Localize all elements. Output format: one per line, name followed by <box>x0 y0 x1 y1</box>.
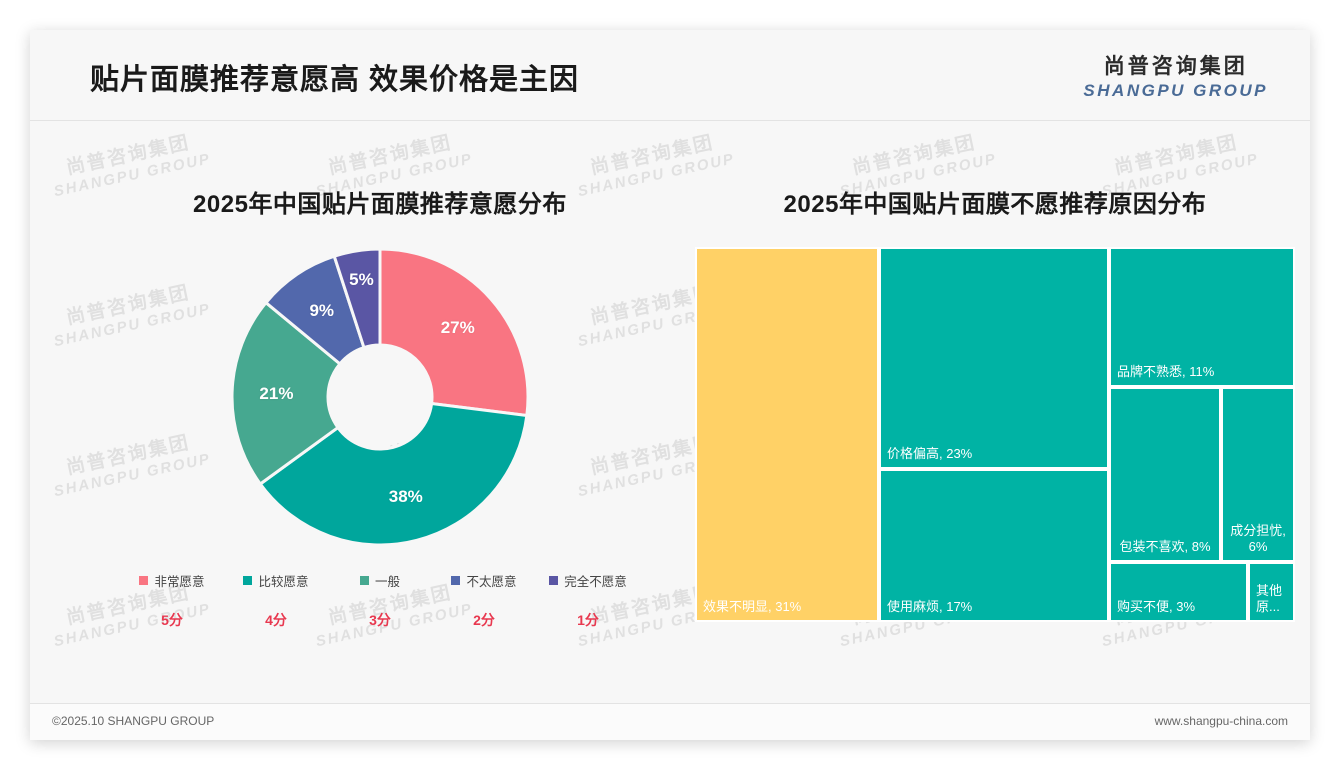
copyright-text: ©2025.10 SHANGPU GROUP <box>52 714 214 728</box>
slide-card: 贴片面膜推荐意愿高 效果价格是主因 尚普咨询集团 SHANGPU GROUP 尚… <box>30 30 1310 740</box>
legend-item-score: 2分 <box>432 610 536 630</box>
treemap-cell[interactable]: 购买不便, 3% <box>1109 562 1248 622</box>
website-link[interactable]: www.shangpu-china.com <box>1155 714 1288 728</box>
legend-item-label: 非常愿意 <box>154 571 204 590</box>
page-title: 贴片面膜推荐意愿高 效果价格是主因 <box>90 56 579 98</box>
brand-logo-en: SHANGPU GROUP <box>1083 82 1268 99</box>
treemap-cell[interactable]: 品牌不熟悉, 11% <box>1109 247 1295 387</box>
chart-panel-recommendation-willingness: 2025年中国贴片面膜推荐意愿分布 27%38%21%9%5% 非常愿意5分比较… <box>70 150 690 690</box>
legend-item-label: 一般 <box>375 571 400 590</box>
treemap-cell-label: 成分担忧, 6% <box>1226 523 1290 556</box>
chart-panel-refusal-reasons: 2025年中国贴片面膜不愿推荐原因分布 效果不明显, 31%价格偏高, 23%使… <box>695 150 1295 690</box>
legend-item-score: 3分 <box>328 610 432 630</box>
treemap-cell[interactable]: 效果不明显, 31% <box>695 247 879 622</box>
legend-item[interactable]: 不太愿意2分 <box>432 571 536 630</box>
treemap-cell-label: 品牌不熟悉, 11% <box>1117 364 1289 380</box>
brand-logo: 尚普咨询集团 SHANGPU GROUP <box>1083 56 1268 99</box>
legend-item-label: 不太愿意 <box>466 571 516 590</box>
treemap-cell[interactable]: 其他原... <box>1248 562 1295 622</box>
treemap-cell-label: 购买不便, 3% <box>1117 599 1242 615</box>
legend-swatch-icon <box>360 576 369 585</box>
donut-segment-label: 9% <box>309 301 334 321</box>
donut-segment-label: 27% <box>441 318 475 338</box>
slide-header: 贴片面膜推荐意愿高 效果价格是主因 尚普咨询集团 SHANGPU GROUP <box>30 30 1310 121</box>
treemap-chart: 效果不明显, 31%价格偏高, 23%使用麻烦, 17%品牌不熟悉, 11%包装… <box>695 247 1295 622</box>
treemap-cell[interactable]: 包装不喜欢, 8% <box>1109 387 1221 562</box>
donut-segment-label: 38% <box>389 487 423 507</box>
legend-item-score: 5分 <box>120 610 224 630</box>
legend-item-score: 4分 <box>224 610 328 630</box>
legend-item-score: 1分 <box>536 610 640 630</box>
legend-swatch-icon <box>451 576 460 585</box>
legend-item[interactable]: 非常愿意5分 <box>120 571 224 630</box>
chart-title-right: 2025年中国贴片面膜不愿推荐原因分布 <box>695 184 1295 219</box>
treemap-cell[interactable]: 成分担忧, 6% <box>1221 387 1295 562</box>
treemap-cell-label: 使用麻烦, 17% <box>887 599 1103 615</box>
treemap-cell-label: 其他原... <box>1256 583 1289 616</box>
legend-swatch-icon <box>139 576 148 585</box>
treemap-cell-label: 价格偏高, 23% <box>887 446 1103 462</box>
treemap-cell-label: 包装不喜欢, 8% <box>1114 539 1216 555</box>
chart-title-left: 2025年中国贴片面膜推荐意愿分布 <box>70 184 690 219</box>
legend-item[interactable]: 一般3分 <box>328 571 432 630</box>
treemap-cell[interactable]: 使用麻烦, 17% <box>879 469 1109 622</box>
slide-footer: ©2025.10 SHANGPU GROUP www.shangpu-china… <box>30 703 1310 740</box>
treemap-cell[interactable]: 价格偏高, 23% <box>879 247 1109 469</box>
brand-logo-cn: 尚普咨询集团 <box>1083 56 1268 77</box>
donut-segment-label: 21% <box>259 384 293 404</box>
legend-swatch-icon <box>243 576 252 585</box>
slide-canvas: 贴片面膜推荐意愿高 效果价格是主因 尚普咨询集团 SHANGPU GROUP 尚… <box>0 0 1340 780</box>
donut-chart: 27%38%21%9%5% <box>230 247 530 547</box>
legend-item-label: 完全不愿意 <box>564 571 627 590</box>
donut-segment-label: 5% <box>349 270 374 290</box>
legend-swatch-icon <box>549 576 558 585</box>
legend-item[interactable]: 完全不愿意1分 <box>536 571 640 630</box>
treemap-cell-label: 效果不明显, 31% <box>703 599 873 615</box>
legend-item-label: 比较愿意 <box>258 571 308 590</box>
chart-legend: 非常愿意5分比较愿意4分一般3分不太愿意2分完全不愿意1分 <box>70 571 690 630</box>
legend-item[interactable]: 比较愿意4分 <box>224 571 328 630</box>
